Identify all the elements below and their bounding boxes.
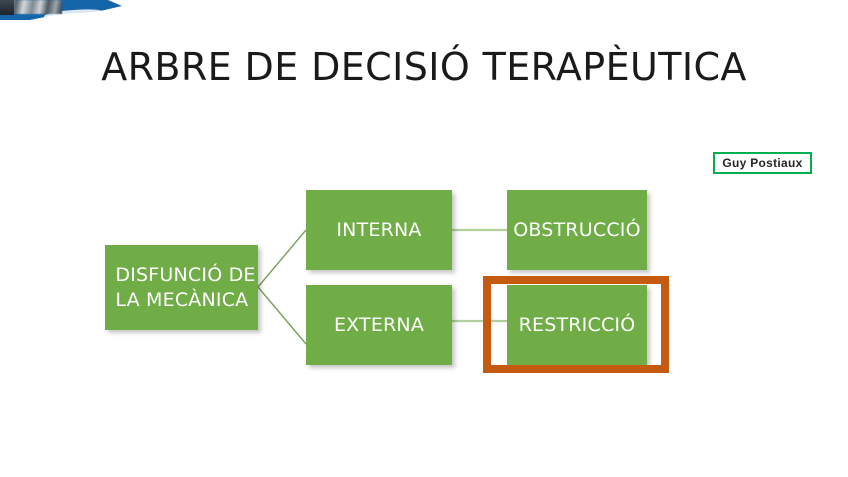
- highlight-frame-restriccio: [483, 276, 669, 373]
- node-label: DISFUNCIÓ DE LA MECÀNICA: [107, 263, 255, 313]
- node-obstruccio[interactable]: OBSTRUCCIÓ: [507, 190, 647, 270]
- node-label: EXTERNA: [334, 313, 424, 338]
- node-externa[interactable]: EXTERNA: [306, 285, 452, 365]
- node-interna[interactable]: INTERNA: [306, 190, 452, 270]
- decision-tree-diagram: DISFUNCIÓ DE LA MECÀNICA INTERNA EXTERNA…: [0, 0, 848, 477]
- node-label: INTERNA: [336, 218, 421, 243]
- edge-root-interna: [258, 230, 306, 287]
- node-label: OBSTRUCCIÓ: [513, 218, 641, 243]
- edge-root-externa: [258, 287, 306, 344]
- node-disfuncio-de-la-mecanica[interactable]: DISFUNCIÓ DE LA MECÀNICA: [105, 245, 258, 330]
